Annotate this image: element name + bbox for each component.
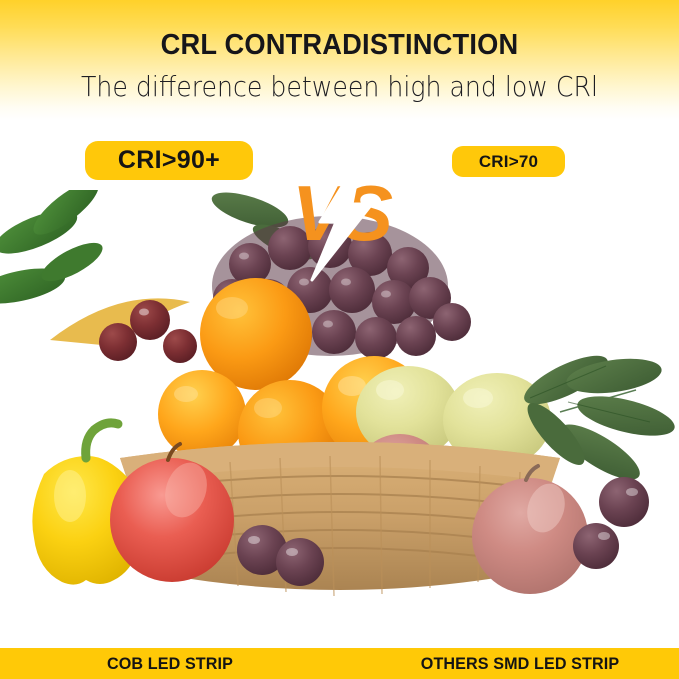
page-subtitle: The difference between high and low CRl <box>34 70 645 103</box>
cri-comparison-poster: CRL CONTRADISTINCTION The difference bet… <box>0 0 679 679</box>
versus-label: VS <box>276 174 406 252</box>
footer-label-cob: COB LED STRIP <box>66 648 275 679</box>
footer-label-smd: OTHERS SMD LED STRIP <box>406 648 634 679</box>
cri-90-badge: CRI>90+ <box>85 141 253 180</box>
footer-bar: COB LED STRIP OTHERS SMD LED STRIP <box>0 648 679 679</box>
leaf-cluster-left <box>0 190 108 310</box>
cri-70-badge: CRI>70 <box>452 146 565 177</box>
page-title: CRL CONTRADISTINCTION <box>20 29 658 62</box>
versus-badge: VS <box>276 160 406 280</box>
pepper-stem <box>86 423 118 458</box>
orange-left <box>158 370 246 458</box>
